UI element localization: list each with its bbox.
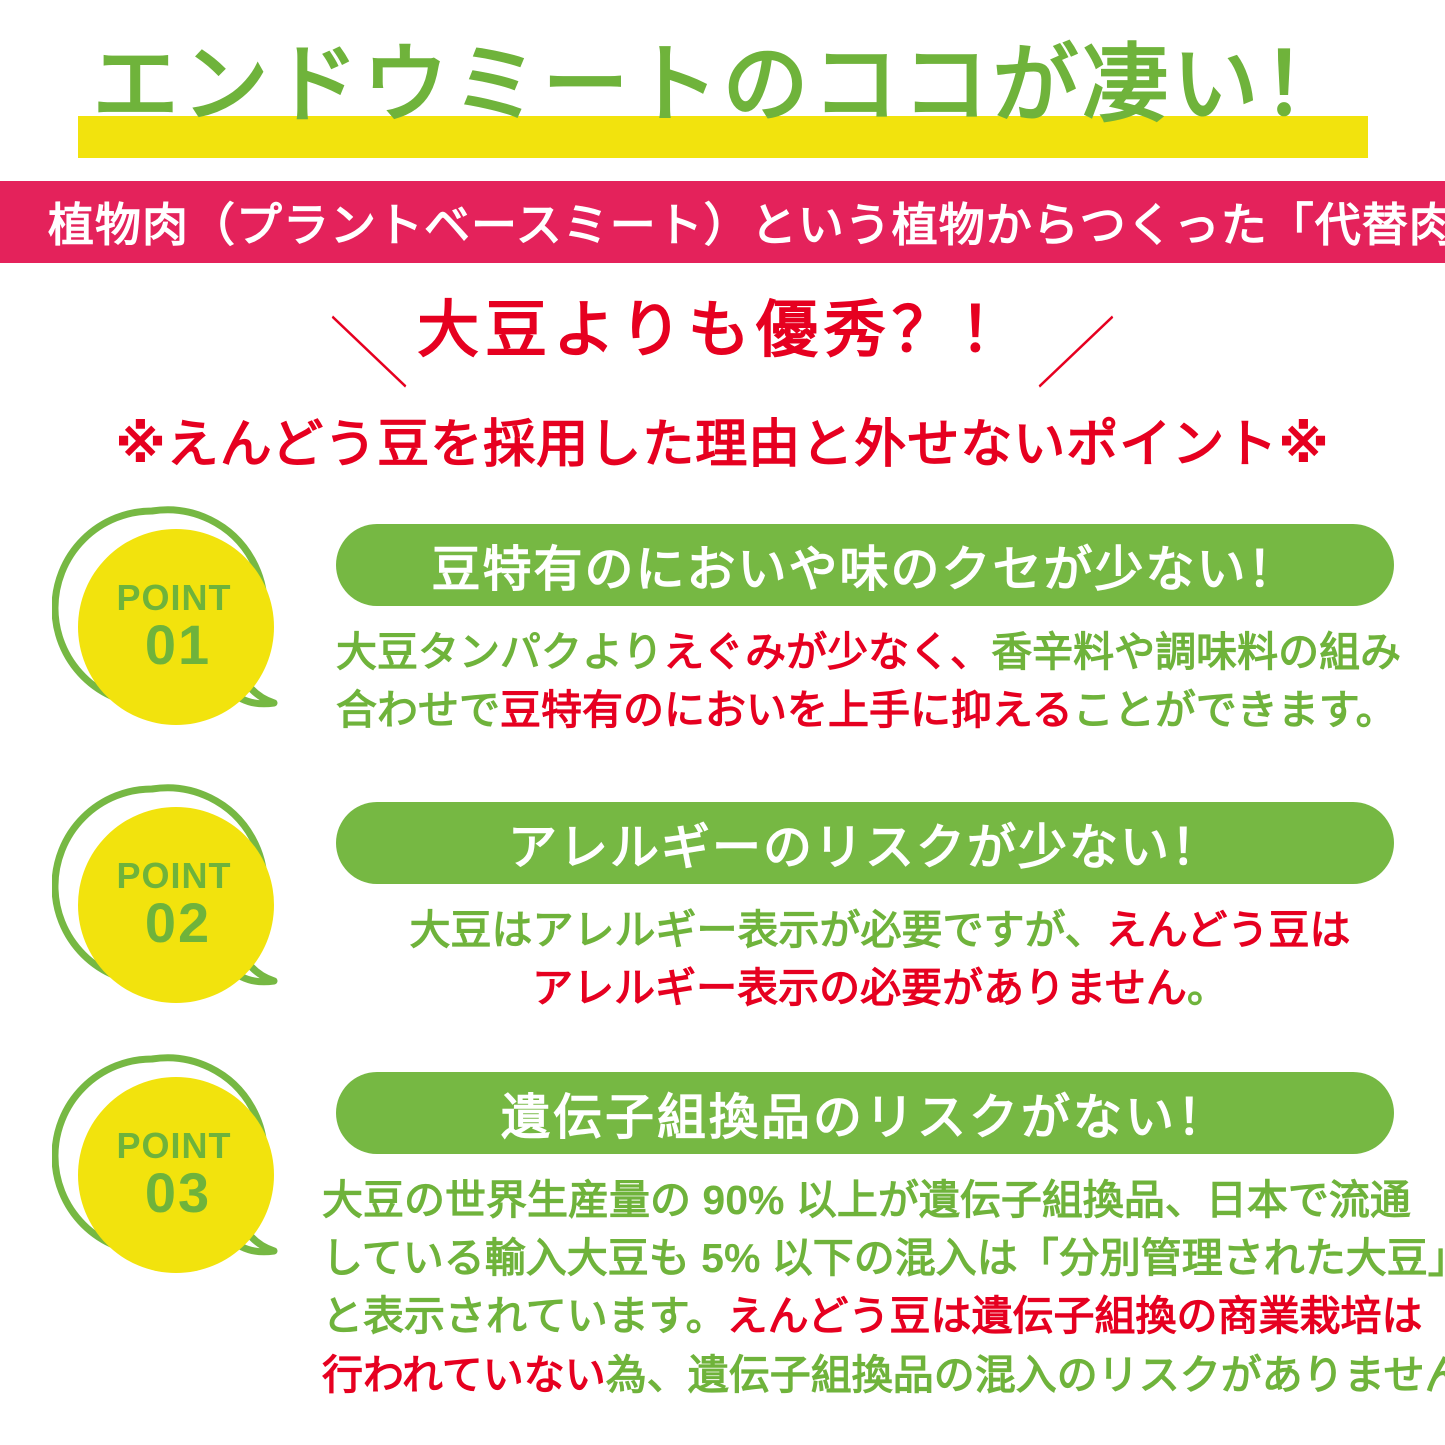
body-line: 合わせで豆特有のにおいを上手に抑えることができます。 [336,681,1408,739]
point-heading-text: 遺伝子組換品のリスクがない！ [501,1078,1229,1149]
point-badge-02: POINT 02 [52,783,302,1013]
point-badge-03: POINT 03 [52,1053,302,1283]
subhead-question: ＼大豆よりも優秀？！／ [0,297,1445,392]
body-line: 大豆タンパクよりえぐみが少なく、香辛料や調味料の組み [336,623,1408,681]
definition-banner: 植物肉（プラントベースミート）という植物からつくった「代替肉」 [0,181,1445,263]
slash-left-icon: ＼ [323,291,413,404]
slash-right-icon: ／ [1032,291,1122,404]
body-segment-red: 豆特有のにおいを上手に抑える [500,687,1073,733]
body-line: している輸入大豆も 5% 以下の混入は「分別管理された大豆」 [322,1229,1412,1287]
body-line: 大豆の世界生産量の 90% 以上が遺伝子組換品、日本で流通 [322,1171,1412,1229]
point-body-02: 大豆はアレルギー表示が必要ですが、えんどう豆はアレルギー表示の必要がありません。 [360,901,1400,1017]
point-block-01: POINT 01 豆特有のにおいや味のクセが少ない！ 大豆タンパクよりえぐみが少… [0,505,1445,755]
body-segment-green: 香辛料や調味料の組み [991,629,1401,675]
point-heading-text: 豆特有のにおいや味のクセが少ない！ [431,530,1298,601]
body-segment-green: 大豆の世界生産量の 90% 以上が遺伝子組換品、日本で流通 [322,1177,1411,1223]
body-segment-red: 行われていない [322,1352,606,1398]
body-segment-green: と表示されています。 [322,1293,727,1339]
subhead-note-text: ※えんどう豆を採用した理由と外せないポイント※ [0,402,1445,477]
badge-number-label: 02 [145,894,211,953]
badge-point-label: POINT [116,858,231,894]
point-heading-text: アレルギーのリスクが少ない！ [508,808,1222,879]
point-body-03: 大豆の世界生産量の 90% 以上が遺伝子組換品、日本で流通している輸入大豆も 5… [322,1171,1412,1404]
body-segment-green: 大豆タンパクより [336,629,663,675]
body-segment-red: えぐみが少なく、 [663,629,991,675]
body-line: 大豆はアレルギー表示が必要ですが、えんどう豆は [360,901,1400,959]
body-segment-green: ことができます。 [1073,687,1397,733]
badge-number-label: 01 [145,616,211,675]
badge-text-group: POINT 02 [78,807,274,1003]
page-title: エンドウミートのココが凄い！ [0,42,1445,128]
body-line: 行われていない為、遺伝子組換品の混入のリスクがありません。 [322,1346,1412,1404]
body-segment-red: アレルギー表示の必要がありません [532,965,1187,1011]
subhead-main-text: 大豆よりも優秀？！ [417,297,1028,365]
point-block-02: POINT 02 アレルギーのリスクが少ない！ 大豆はアレルギー表示が必要ですが… [0,783,1445,1033]
body-line: と表示されています。えんどう豆は遺伝子組換の商業栽培は [322,1287,1412,1345]
point-block-03: POINT 03 遺伝子組換品のリスクがない！ 大豆の世界生産量の 90% 以上… [0,1053,1445,1303]
point-heading-pill-01: 豆特有のにおいや味のクセが少ない！ [336,524,1394,606]
body-segment-green: 大豆はアレルギー表示が必要ですが、 [410,907,1106,953]
badge-point-label: POINT [116,1128,231,1164]
body-segment-red: えんどう豆は遺伝子組換の商業栽培は [727,1293,1423,1339]
body-segment-green: 合わせで [336,687,500,733]
badge-text-group: POINT 03 [78,1077,274,1273]
hero-header: エンドウミートのココが凄い！ [0,0,1445,160]
badge-number-label: 03 [145,1164,211,1223]
body-segment-green: 為、遺伝子組換品の混入のリスクがありません。 [606,1352,1445,1398]
badge-point-label: POINT [116,580,231,616]
definition-banner-text: 植物肉（プラントベースミート）という植物からつくった「代替肉」 [0,189,1445,255]
point-heading-pill-03: 遺伝子組換品のリスクがない！ [336,1072,1394,1154]
body-segment-red: えんどう豆は [1106,907,1351,953]
point-badge-01: POINT 01 [52,505,302,735]
body-segment-green: 。 [1187,965,1228,1011]
point-heading-pill-02: アレルギーのリスクが少ない！ [336,802,1394,884]
body-segment-green: している輸入大豆も 5% 以下の混入は「分別管理された大豆」 [322,1235,1445,1281]
point-body-01: 大豆タンパクよりえぐみが少なく、香辛料や調味料の組み合わせで豆特有のにおいを上手… [336,623,1408,739]
body-line: アレルギー表示の必要がありません。 [360,959,1400,1017]
badge-text-group: POINT 01 [78,529,274,725]
